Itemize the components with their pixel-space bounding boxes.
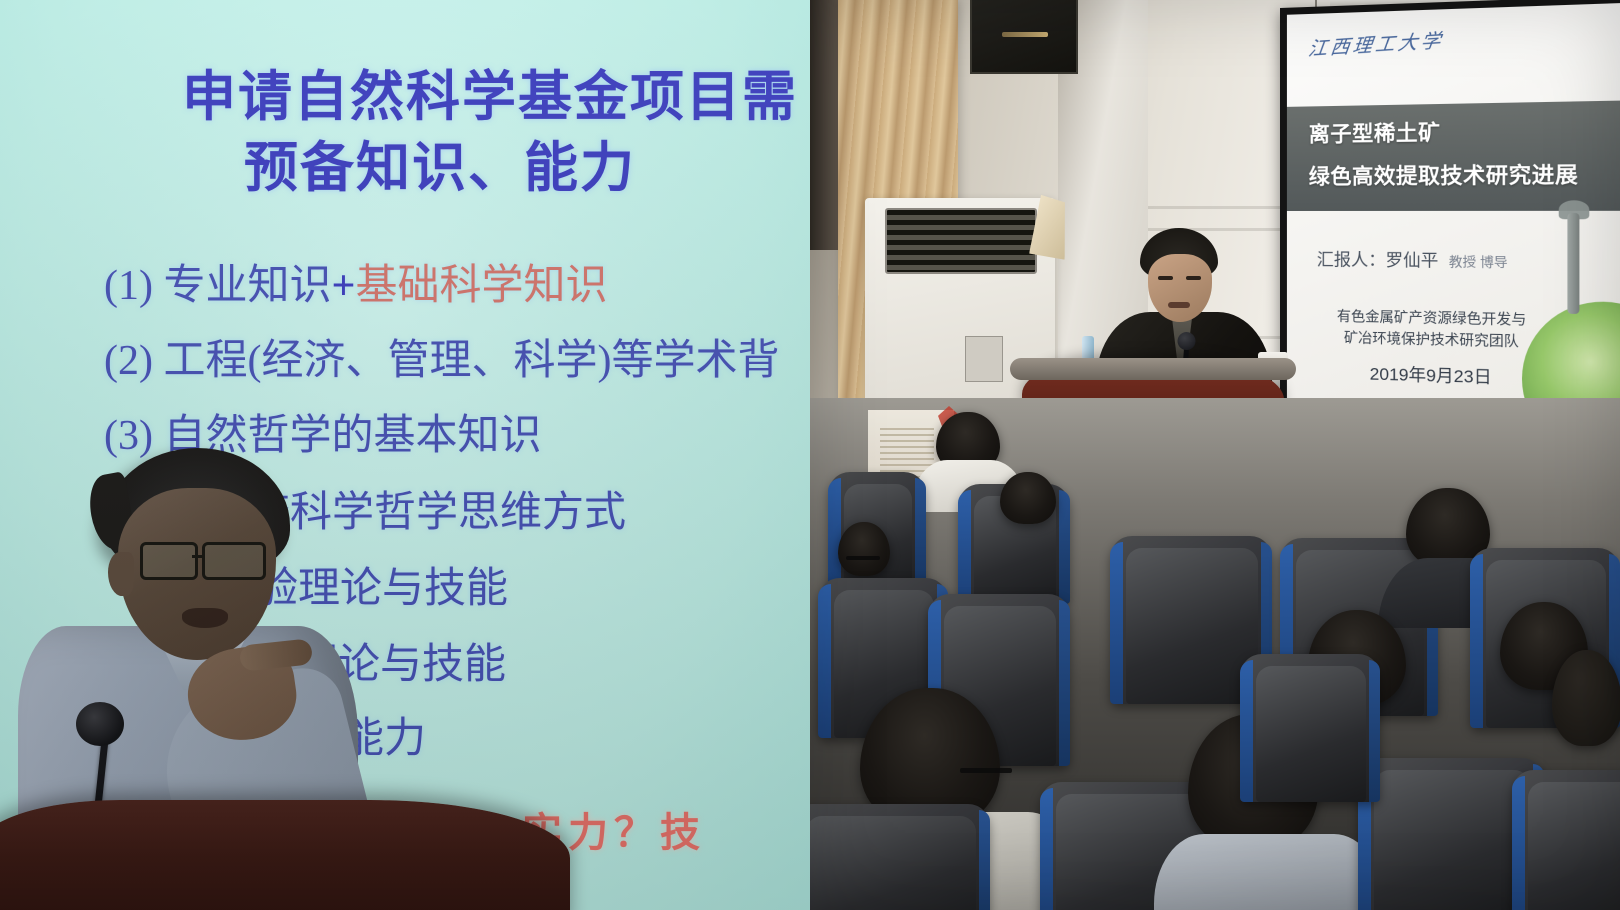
right-slide-title-line2: 绿色高效提取技术研究进展 bbox=[1309, 161, 1620, 190]
audience-shoulders bbox=[1154, 834, 1384, 910]
bullet-1-plus: + bbox=[332, 263, 356, 309]
bullet-2-number: (2) bbox=[104, 338, 153, 384]
audience-seat[interactable] bbox=[810, 804, 990, 910]
microphone-icon bbox=[76, 702, 124, 746]
left-podium bbox=[0, 800, 570, 910]
presenter-label: 汇报人：罗仙平 bbox=[1317, 250, 1439, 270]
slide-title-bar: 离子型稀土矿 绿色高效提取技术研究进展 bbox=[1287, 100, 1620, 211]
screenshot-stage: 申请自然科学基金项目需 预备知识、能力 (1) 专业知识+基础科学知识 (2) … bbox=[0, 0, 1620, 910]
bullet-1-highlight: 基础科学知识 bbox=[355, 263, 607, 309]
bullet-2-text: 工程(经济、管理、科学)等学术背 bbox=[163, 338, 779, 384]
team-line2: 矿冶环境保护技术研究团队 bbox=[1313, 327, 1552, 354]
glasses-icon bbox=[960, 768, 1012, 773]
right-slide-presenter: 汇报人：罗仙平教授 博导 bbox=[1317, 245, 1508, 272]
presenter-eyes bbox=[1158, 276, 1202, 280]
audience-seat[interactable] bbox=[1512, 770, 1620, 910]
projection-screen-surface: 江西理工大学 离子型稀土矿 绿色高效提取技术研究进展 汇报人：罗仙平教授 博导 … bbox=[1287, 1, 1620, 426]
audience-head bbox=[838, 522, 890, 576]
presenter-titles: 教授 博导 bbox=[1449, 254, 1508, 270]
audience-head bbox=[1000, 472, 1056, 524]
right-slide-title-line1: 离子型稀土矿 bbox=[1309, 117, 1620, 148]
audience-area bbox=[810, 398, 1620, 910]
bullet-1-text: 专业知识 bbox=[163, 263, 331, 309]
ac-grill bbox=[885, 208, 1037, 274]
slide-bullet-1: (1) 专业知识+基础科学知识 bbox=[104, 265, 607, 307]
presenter-mouth bbox=[1168, 302, 1190, 308]
right-photo-panel: 江西理工大学 离子型稀土矿 绿色高效提取技术研究进展 汇报人：罗仙平教授 博导 … bbox=[810, 0, 1620, 910]
slide-title-line2: 预备知识、能力 bbox=[0, 133, 810, 204]
right-slide-team: 有色金属矿产资源绿色开发与 矿冶环境保护技术研究团队 bbox=[1313, 306, 1552, 354]
wall-speaker-icon bbox=[970, 0, 1078, 74]
ac-control-panel[interactable] bbox=[965, 336, 1003, 382]
glasses-icon bbox=[846, 556, 880, 560]
left-photo-panel: 申请自然科学基金项目需 预备知识、能力 (1) 专业知识+基础科学知识 (2) … bbox=[0, 0, 810, 910]
speaker-mouth bbox=[182, 608, 228, 628]
speaker-ear bbox=[108, 552, 134, 596]
projection-screen: 江西理工大学 离子型稀土矿 绿色高效提取技术研究进展 汇报人：罗仙平教授 博导 … bbox=[1280, 0, 1620, 434]
glasses-icon bbox=[140, 542, 272, 576]
bullet-1-number: (1) bbox=[104, 263, 153, 309]
slide-title-line1: 申请自然科学基金项目需 bbox=[182, 67, 798, 127]
university-logo: 江西理工大学 bbox=[1307, 25, 1446, 61]
audience-seat[interactable] bbox=[1240, 654, 1380, 802]
slide-bullet-2: (2) 工程(经济、管理、科学)等学术背 bbox=[104, 340, 779, 382]
audience-head bbox=[1552, 650, 1620, 746]
slide-title: 申请自然科学基金项目需 预备知识、能力 bbox=[0, 62, 810, 205]
